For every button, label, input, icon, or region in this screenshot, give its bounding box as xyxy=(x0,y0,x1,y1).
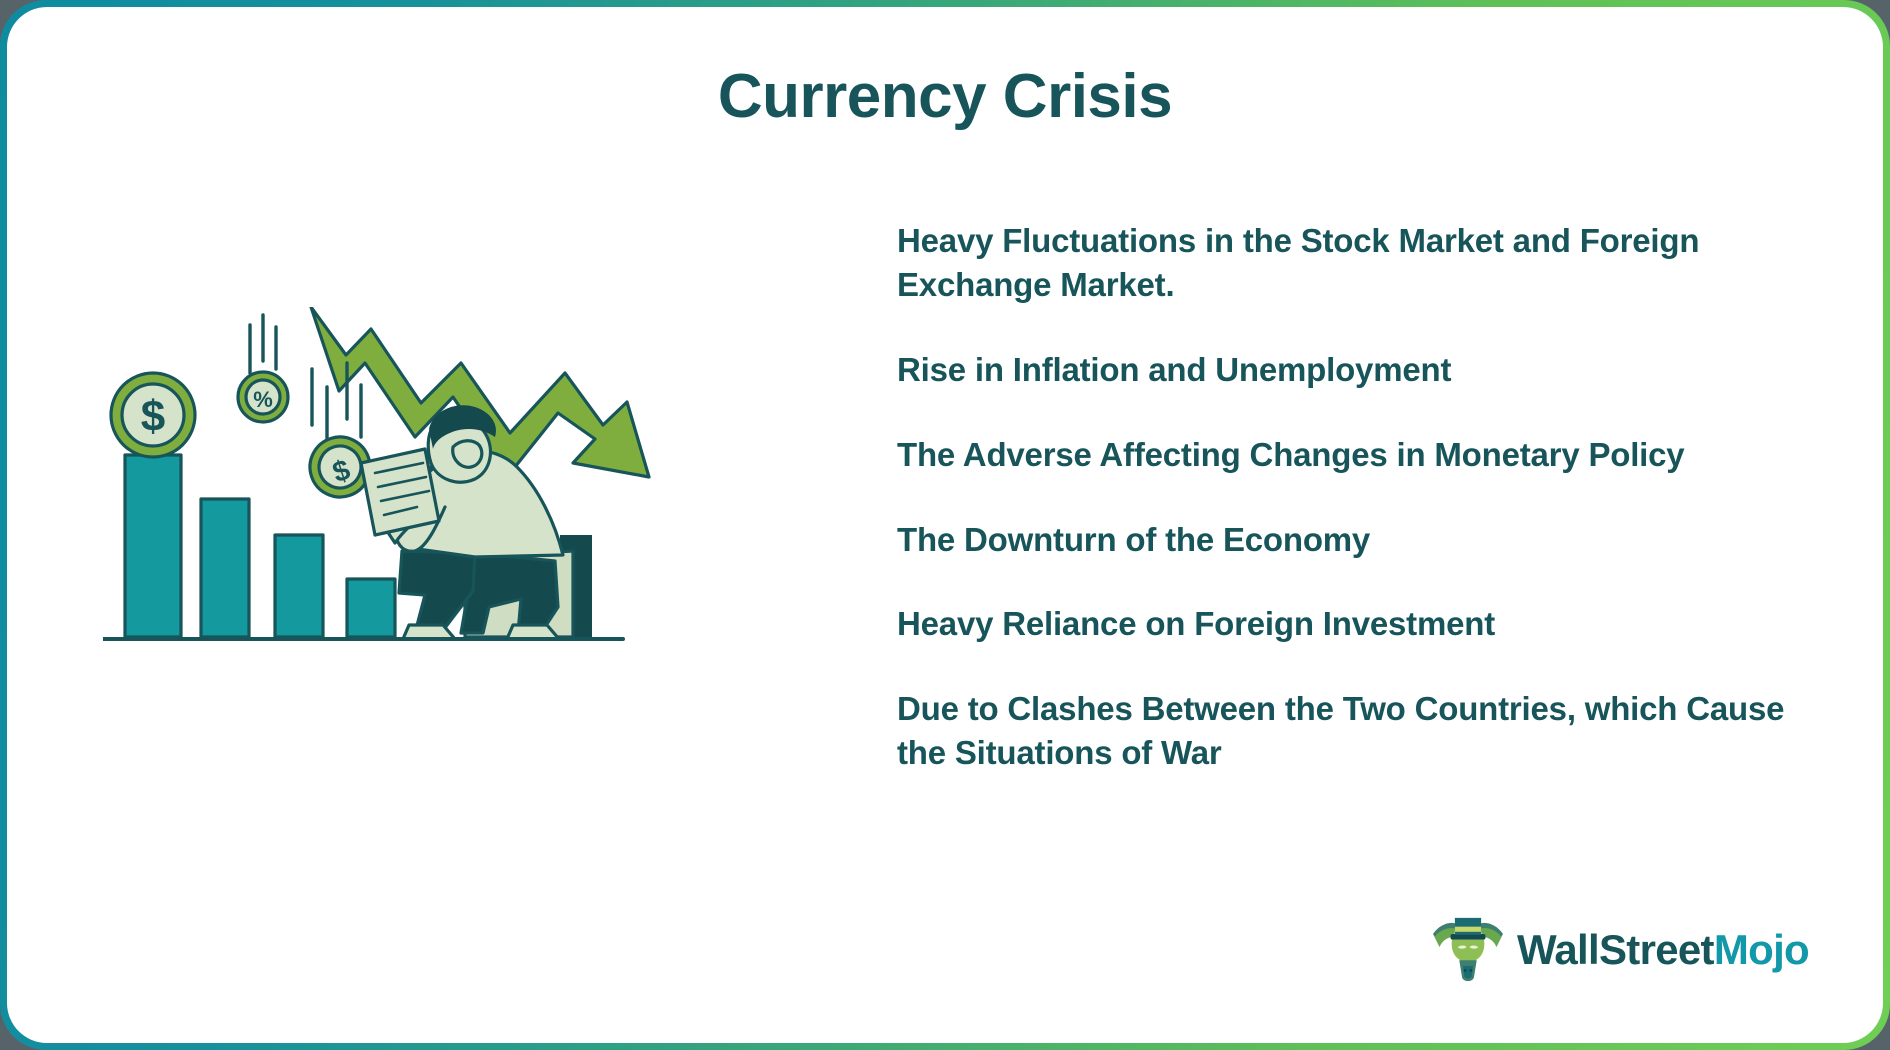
page-title: Currency Crisis xyxy=(7,61,1883,132)
logo-wordmark: WallStreetMojo xyxy=(1517,926,1809,974)
infographic-card: Currency Crisis .ol { stroke:#17555a; st… xyxy=(7,7,1883,1043)
logo-wordmark-secondary: Mojo xyxy=(1714,926,1809,973)
wallstreetmojo-logo: WallStreetMojo xyxy=(1431,915,1809,985)
svg-text:$: $ xyxy=(141,392,165,441)
bull-with-top-hat-icon xyxy=(1431,915,1505,985)
key-points-list: Heavy Fluctuations in the Stock Market a… xyxy=(897,219,1827,775)
bar-1 xyxy=(125,455,181,637)
bar-2 xyxy=(201,499,249,637)
list-item: Due to Clashes Between the Two Countries… xyxy=(897,687,1827,775)
currency-crisis-illustration: .ol { stroke:#17555a; stroke-width:3.2; … xyxy=(103,307,793,767)
list-item: Rise in Inflation and Unemployment xyxy=(897,348,1827,392)
list-item: The Adverse Affecting Changes in Monetar… xyxy=(897,433,1827,477)
document-icon xyxy=(361,449,439,535)
infographic-border: Currency Crisis .ol { stroke:#17555a; st… xyxy=(0,0,1890,1050)
bar-4 xyxy=(347,579,395,637)
motion-lines-left xyxy=(250,315,276,373)
list-item: The Downturn of the Economy xyxy=(897,518,1827,562)
percent-coin: % xyxy=(238,372,288,422)
list-item: Heavy Fluctuations in the Stock Market a… xyxy=(897,219,1827,307)
logo-wordmark-primary: WallStreet xyxy=(1517,926,1714,973)
svg-text:%: % xyxy=(253,387,273,412)
bar-3 xyxy=(275,535,323,637)
dollar-coin-large: $ xyxy=(111,373,195,457)
list-item: Heavy Reliance on Foreign Investment xyxy=(897,602,1827,646)
